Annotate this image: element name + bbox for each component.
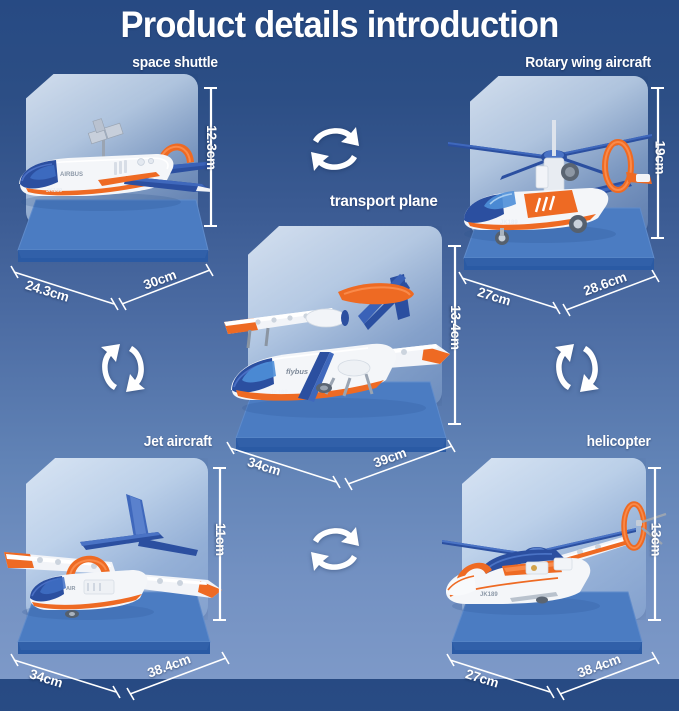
panel-label-space-shuttle: space shuttle (132, 55, 218, 71)
infographic-canvas: Product details introduction space shutt… (0, 0, 679, 679)
dimension-width: 24.3cm (8, 260, 128, 330)
panel-label-rotary-wing-aircraft: Rotary wing aircraft (525, 55, 651, 71)
dimension-depth: 28.6cm (562, 268, 674, 330)
swap-horizontal-icon-bottom[interactable] (303, 520, 367, 578)
model-transport-plane: flybus JK189 (214, 238, 464, 428)
svg-text:AIRBUS: AIRBUS (60, 172, 83, 178)
svg-text:flybus: flybus (286, 367, 308, 376)
model-jet-aircraft: AIR (0, 480, 230, 620)
svg-text:JK189: JK189 (500, 220, 518, 226)
panel-label-jet-aircraft: Jet aircraft (144, 434, 212, 450)
swap-vertical-icon-left[interactable] (94, 336, 152, 400)
dimension-height: 19cm (645, 84, 679, 242)
dimension-height-label: 12.3cm (204, 125, 219, 170)
panel-jet-aircraft: Jet aircraft (0, 422, 250, 679)
panel-space-shuttle: space shuttle (0, 52, 240, 292)
dimension-height-label: 13cm (648, 523, 663, 557)
dimension-height: 11cm (205, 464, 247, 624)
panel-helicopter: helicopter (430, 422, 679, 679)
dimension-height-label: 11cm (213, 523, 228, 556)
dimension-depth: 38.4cm (556, 650, 674, 706)
svg-text:JK189: JK189 (270, 390, 288, 396)
model-space-shuttle: AIRBUS JK189 (6, 110, 216, 220)
swap-horizontal-icon-top[interactable] (303, 120, 367, 178)
svg-text:AIR: AIR (66, 586, 76, 592)
dimension-height: 13cm (642, 464, 679, 624)
dimension-width: 27cm (444, 650, 566, 706)
dimension-height-label: 19cm (652, 141, 667, 175)
swap-vertical-icon-right[interactable] (548, 336, 606, 400)
dimension-width: 34cm (8, 650, 132, 706)
panel-label-transport-plane: transport plane (330, 193, 438, 211)
page-title: Product details introduction (24, 4, 655, 46)
svg-text:JK189: JK189 (480, 592, 498, 598)
svg-text:JK189: JK189 (46, 188, 62, 194)
dimension-height-label: 13.4cm (448, 305, 463, 350)
dimension-depth: 38.4cm (126, 650, 244, 706)
panel-label-helicopter: helicopter (587, 434, 651, 450)
model-helicopter: JK189 (430, 474, 670, 624)
dimension-height: 13.4cm (440, 242, 484, 428)
